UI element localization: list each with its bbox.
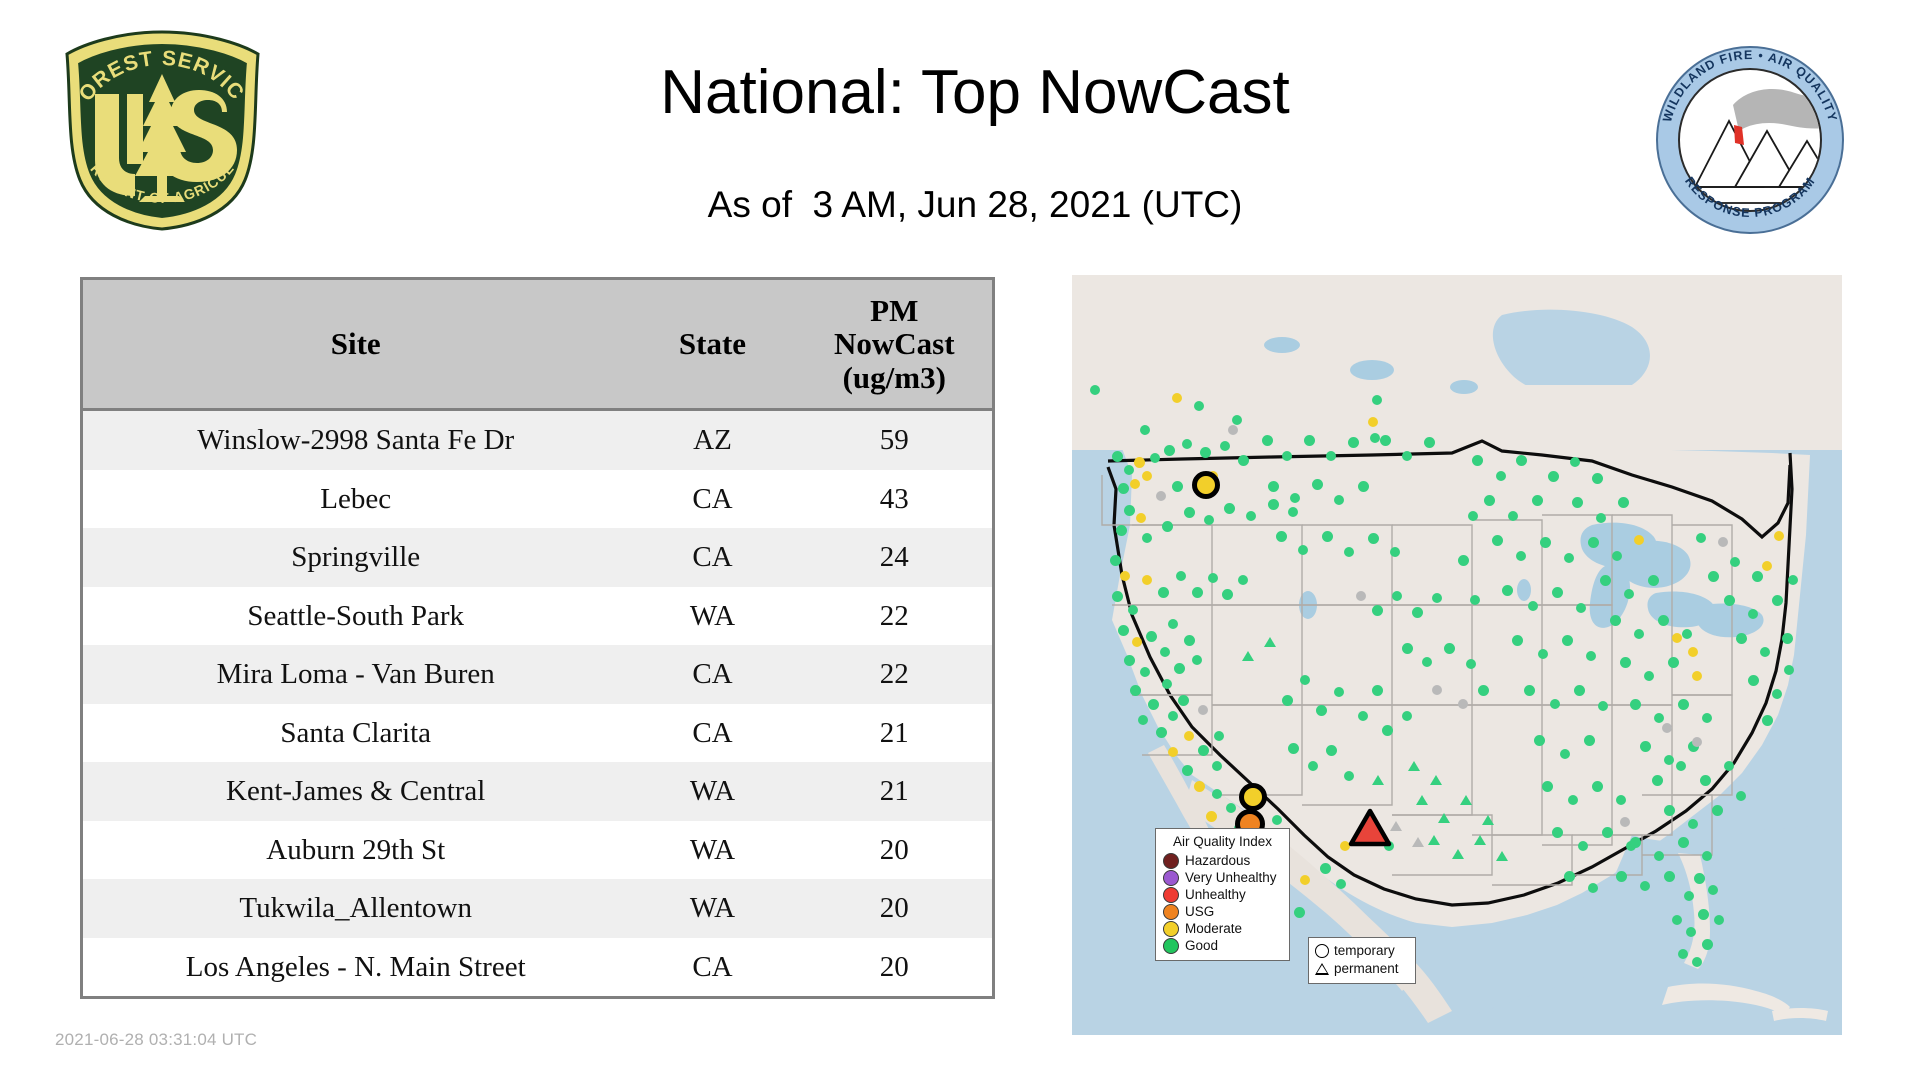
usda-forest-service-shield-logo: FOREST SERVICE DEPARTMENT OF AGRICULTURE (55, 28, 270, 233)
cell-state: CA (628, 528, 796, 587)
cell-value: 22 (797, 645, 992, 704)
cell-site: Seattle-South Park (83, 587, 628, 646)
temporary-monitor-circle-icon (1315, 944, 1329, 958)
table-row: Kent-James & CentralWA21 (83, 762, 992, 821)
table-row: Tukwila_AllentownWA20 (83, 879, 992, 938)
monitor-type-legend: temporary permanent (1308, 937, 1416, 984)
legend-item-moderate: Moderate (1163, 920, 1282, 937)
table-row: LebecCA43 (83, 470, 992, 529)
cell-value: 21 (797, 704, 992, 763)
cell-value: 59 (797, 410, 992, 470)
cell-state: WA (628, 879, 796, 938)
top-nowcast-table-container: Site State PM NowCast (ug/m3) Winslow-29… (80, 277, 995, 999)
pm-header-line1: PM (801, 294, 988, 327)
column-header-state: State (628, 280, 796, 410)
column-header-site: Site (83, 280, 628, 410)
legend-item-temporary: temporary (1315, 942, 1409, 960)
permanent-monitor-triangle-icon (1315, 963, 1329, 975)
legend-label: Unhealthy (1185, 886, 1246, 903)
cell-site: Auburn 29th St (83, 821, 628, 880)
highlighted-site-seattle-south-park[interactable] (1192, 471, 1220, 499)
cell-value: 20 (797, 821, 992, 880)
slide-root: FOREST SERVICE DEPARTMENT OF AGRICULTURE (0, 0, 1920, 1080)
cell-state: CA (628, 470, 796, 529)
cell-site: Mira Loma - Van Buren (83, 645, 628, 704)
cell-site: Santa Clarita (83, 704, 628, 763)
legend-item-hazardous: Hazardous (1163, 852, 1282, 869)
legend-item-good: Good (1163, 937, 1282, 954)
cell-state: CA (628, 704, 796, 763)
cell-site: Kent-James & Central (83, 762, 628, 821)
highlighted-site-santa-clarita[interactable] (1239, 783, 1267, 811)
legend-title: Air Quality Index (1163, 834, 1282, 849)
cell-value: 24 (797, 528, 992, 587)
hazardous-swatch-icon (1163, 853, 1179, 869)
cell-site: Springville (83, 528, 628, 587)
column-header-pm-nowcast: PM NowCast (ug/m3) (797, 280, 992, 410)
moderate-swatch-icon (1163, 921, 1179, 937)
cell-site: Winslow-2998 Santa Fe Dr (83, 410, 628, 470)
page-title: National: Top NowCast (330, 60, 1620, 125)
legend-label: Moderate (1185, 920, 1242, 937)
table-body: Winslow-2998 Santa Fe DrAZ59 LebecCA43 S… (83, 410, 992, 997)
legend-label: Hazardous (1185, 852, 1250, 869)
legend-label: Very Unhealthy (1185, 869, 1277, 886)
legend-label: Good (1185, 937, 1218, 954)
air-quality-monitor-map[interactable]: Air Quality Index Hazardous Very Unhealt… (1072, 275, 1842, 1035)
cell-value: 22 (797, 587, 992, 646)
table-row: Auburn 29th StWA20 (83, 821, 992, 880)
table-row: Los Angeles - N. Main StreetCA20 (83, 938, 992, 997)
highlighted-site-winslow-2998-santa-fe-dr[interactable] (1348, 808, 1392, 848)
cell-site: Lebec (83, 470, 628, 529)
table-row: SpringvilleCA24 (83, 528, 992, 587)
cell-state: CA (628, 938, 796, 997)
good-swatch-icon (1163, 938, 1179, 954)
cell-state: WA (628, 587, 796, 646)
cell-value: 20 (797, 879, 992, 938)
pm-header-line3: (ug/m3) (801, 361, 988, 394)
cell-state: CA (628, 645, 796, 704)
generation-timestamp: 2021-06-28 03:31:04 UTC (55, 1030, 257, 1050)
usg-swatch-icon (1163, 904, 1179, 920)
legend-label: USG (1185, 903, 1214, 920)
air-quality-index-legend: Air Quality Index Hazardous Very Unhealt… (1155, 828, 1290, 961)
pm-header-line2: NowCast (801, 327, 988, 360)
table-row: Seattle-South ParkWA22 (83, 587, 992, 646)
wildland-fire-air-quality-response-program-seal: WILDLAND FIRE • AIR QUALITY RESPONSE PRO… (1655, 45, 1845, 235)
cell-value: 21 (797, 762, 992, 821)
top-nowcast-table: Site State PM NowCast (ug/m3) Winslow-29… (83, 280, 992, 996)
legend-item-usg: USG (1163, 903, 1282, 920)
legend-label: temporary (1334, 942, 1395, 960)
table-row: Mira Loma - Van BurenCA22 (83, 645, 992, 704)
table-row: Santa ClaritaCA21 (83, 704, 992, 763)
legend-item-permanent: permanent (1315, 960, 1409, 978)
cell-site: Tukwila_Allentown (83, 879, 628, 938)
cell-state: AZ (628, 410, 796, 470)
legend-item-very-unhealthy: Very Unhealthy (1163, 869, 1282, 886)
page-subtitle: As of 3 AM, Jun 28, 2021 (UTC) (330, 185, 1620, 226)
legend-label: permanent (1334, 960, 1399, 978)
cell-site: Los Angeles - N. Main Street (83, 938, 628, 997)
unhealthy-swatch-icon (1163, 887, 1179, 903)
table-header-row: Site State PM NowCast (ug/m3) (83, 280, 992, 410)
cell-value: 20 (797, 938, 992, 997)
cell-value: 43 (797, 470, 992, 529)
cell-state: WA (628, 821, 796, 880)
legend-item-unhealthy: Unhealthy (1163, 886, 1282, 903)
cell-state: WA (628, 762, 796, 821)
table-row: Winslow-2998 Santa Fe DrAZ59 (83, 410, 992, 470)
very-unhealthy-swatch-icon (1163, 870, 1179, 886)
